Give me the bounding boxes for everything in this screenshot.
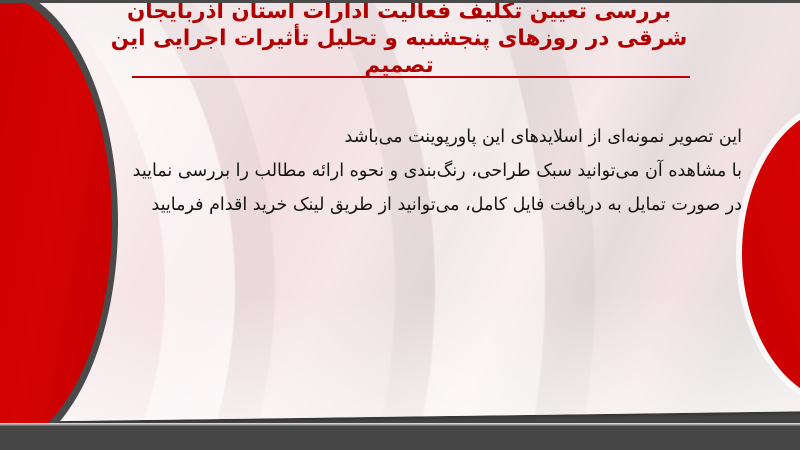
title-divider-rule [132,76,690,78]
body-line-3: در صورت تمایل به دریافت فایل کامل، می‌تو… [82,188,742,222]
dark-frame-bottom [0,424,800,450]
presentation-slide: بررسی تعیین تکلیف فعالیت ادارات استان آذ… [0,0,800,450]
title-line-1: بررسی تعیین تکلیف فعالیت ادارات استان آذ… [94,0,704,25]
bottom-band-highlight [0,423,800,426]
dark-frame-top [0,0,800,3]
body-line-2: با مشاهده آن می‌توانید سبک طراحی، رنگ‌بن… [82,154,742,188]
slide-title: بررسی تعیین تکلیف فعالیت ادارات استان آذ… [94,0,704,79]
slide-body-text: این تصویر نمونه‌ای از اسلایدهای این پاور… [82,120,742,222]
body-line-1: این تصویر نمونه‌ای از اسلایدهای این پاور… [82,120,742,154]
title-line-2: شرقی در روزهای پنجشنبه و تحلیل تأثیرات ا… [94,25,704,52]
title-line-3: تصمیم [94,52,704,79]
